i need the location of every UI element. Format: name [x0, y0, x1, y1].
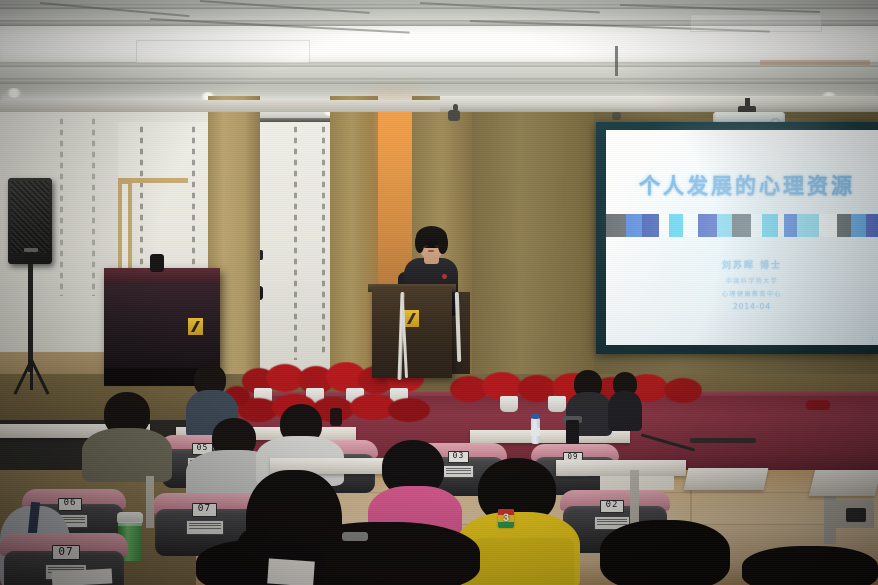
desk-support	[146, 476, 154, 528]
stand-leg	[30, 360, 33, 390]
track-light-arm	[453, 104, 458, 111]
attendee	[600, 520, 730, 585]
slide-color-band	[606, 214, 878, 237]
thermos-highlight	[118, 522, 142, 526]
jacket-logo-patch: 3	[498, 509, 514, 528]
slide-title: 个人发展的心理资源	[622, 170, 872, 200]
seat-number: 07	[192, 503, 217, 517]
color-band-block-4	[669, 214, 683, 237]
color-band-block-6	[698, 214, 717, 237]
lecture-hall-photo: 个人发展的心理资源 刘苏晖 博士 中国科学院大学 心理健康教育中心 2014-0…	[0, 0, 878, 585]
color-band-block-0	[606, 214, 626, 237]
color-band-block-1	[626, 214, 643, 237]
color-band-block-17	[866, 214, 878, 237]
color-band-block-8	[732, 214, 752, 237]
attendee	[608, 372, 642, 428]
patch-number: 3	[498, 509, 514, 528]
color-band-block-10	[762, 214, 779, 237]
desk-object	[566, 420, 579, 444]
panel-perforation-column	[92, 116, 95, 296]
attendee	[742, 546, 878, 585]
color-band-block-9	[751, 214, 762, 237]
downlight	[6, 88, 22, 98]
slide-affiliation-2: 心理健康教育中心	[672, 289, 832, 298]
paper-sheet	[267, 558, 315, 585]
stage-cable	[690, 438, 756, 443]
seat-number: 02	[600, 500, 624, 513]
seat-number: 07	[52, 545, 80, 560]
color-band-block-7	[717, 214, 732, 237]
seat-tag	[186, 520, 224, 535]
desk-object	[846, 508, 866, 522]
ceiling-beam	[0, 62, 878, 67]
ceiling-tile	[690, 14, 822, 32]
attendee	[82, 392, 172, 470]
slide-page-number: 1	[871, 337, 874, 343]
color-band-block-15	[837, 214, 851, 237]
speaker-hair-left	[415, 235, 424, 253]
wall-column	[330, 96, 378, 396]
color-band-block-16	[851, 214, 866, 237]
ceiling-rail-left	[0, 100, 444, 112]
wall-trim-top	[118, 178, 188, 183]
desk-row	[809, 470, 878, 496]
panel-perforation-column	[60, 116, 63, 296]
bottle-label	[531, 428, 540, 436]
bottle-cap	[532, 414, 539, 419]
slide-presenter-name: 刘苏晖 博士	[672, 258, 832, 271]
speaker-mouth	[428, 250, 434, 252]
ceiling-beam	[0, 78, 878, 84]
color-band-block-12	[784, 214, 796, 237]
ceiling-rail-right	[440, 96, 878, 112]
paper-sheet	[52, 568, 113, 585]
color-band-block-5	[683, 214, 698, 237]
desk-row	[684, 468, 769, 490]
wall-center	[472, 96, 594, 396]
slide-date: 2014-04	[672, 302, 832, 311]
pa-speaker-grill	[11, 181, 49, 253]
track-light	[612, 112, 621, 120]
slide-subtitle-block: 刘苏晖 博士 中国科学院大学 心理健康教育中心 2014-04	[672, 258, 832, 311]
panel-perforation-column	[294, 124, 297, 360]
speaker-lapel-pin	[442, 274, 447, 279]
slide-affiliation-1: 中国科学院大学	[672, 276, 832, 285]
table-object	[150, 254, 164, 272]
plant-blob	[806, 400, 830, 410]
track-light	[448, 110, 460, 121]
panel-perforation-column	[322, 124, 325, 356]
small-object	[330, 408, 342, 426]
ceiling-duct	[760, 60, 870, 65]
color-band-block-2	[642, 214, 659, 237]
ceiling-tile	[136, 40, 310, 64]
color-band-block-3	[659, 214, 670, 237]
projection-screen: 个人发展的心理资源 刘苏晖 博士 中国科学院大学 心理健康教育中心 2014-0…	[606, 130, 878, 345]
podium	[372, 288, 452, 378]
ceiling-hanger	[615, 46, 618, 76]
color-band-block-13	[797, 214, 820, 237]
color-band-block-14	[819, 214, 837, 237]
speaker-stand-pole	[28, 264, 33, 372]
speaker-eye	[435, 245, 439, 247]
pa-speaker-badge	[24, 248, 38, 252]
speaker-eye	[424, 245, 428, 247]
